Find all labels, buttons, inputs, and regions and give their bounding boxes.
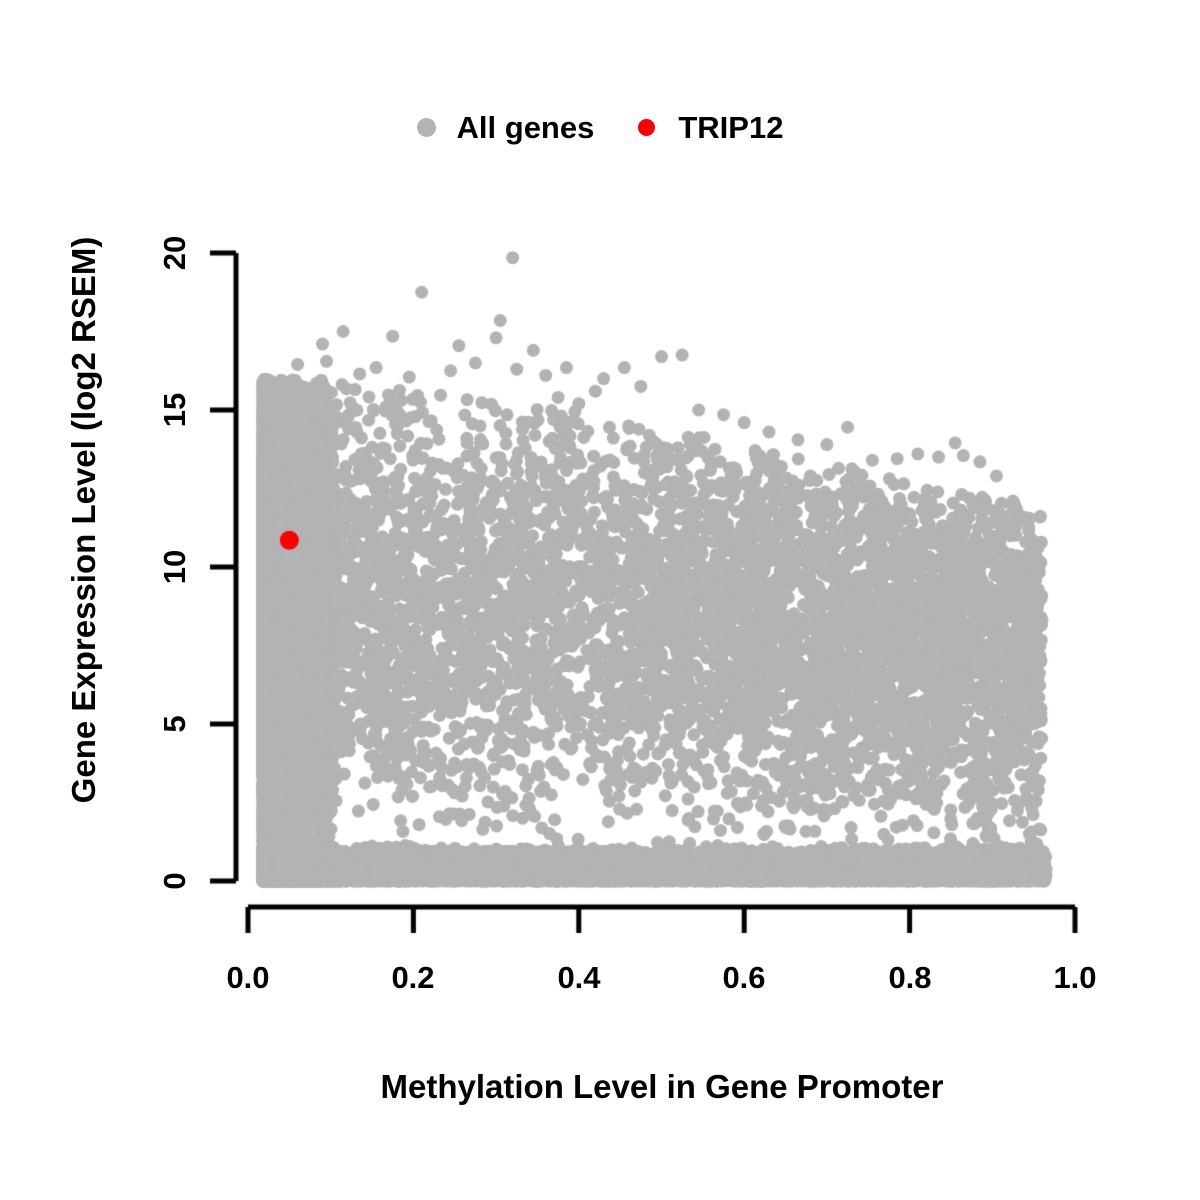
y-tick-label: 10: [157, 550, 193, 584]
x-tick-label: 0.0: [226, 960, 269, 996]
x-tick-label: 0.4: [557, 960, 600, 996]
x-tick-label: 0.6: [722, 960, 765, 996]
scatter-plot-figure: All genes TRIP12 0 5 10 15 20 0.0 0.2 0.…: [0, 0, 1200, 1200]
y-tick-label: 0: [157, 872, 193, 889]
y-tick-label: 15: [157, 393, 193, 427]
plot-canvas: [0, 0, 1200, 1200]
x-axis-title: Methylation Level in Gene Promoter: [248, 1068, 1076, 1106]
x-tick-label: 0.8: [888, 960, 931, 996]
x-tick-label: 0.2: [391, 960, 434, 996]
y-tick-label: 20: [157, 236, 193, 270]
y-axis-title: Gene Expression Level (log2 RSEM): [56, 0, 112, 1040]
x-tick-label: 1.0: [1053, 960, 1096, 996]
y-tick-label: 5: [157, 715, 193, 732]
